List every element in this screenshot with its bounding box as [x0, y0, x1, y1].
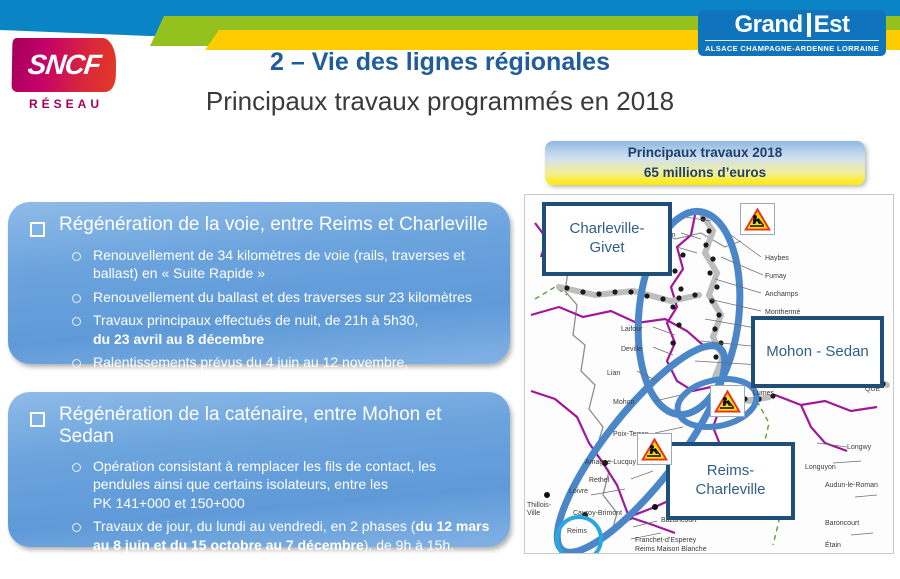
roadworks-glyph [713, 388, 742, 414]
list-item: Renouvellement de 34 kilomètres de voie … [22, 246, 494, 283]
map-callout-line1: Charleville- [569, 220, 644, 237]
roadworks-icon [637, 433, 672, 465]
map-callout-text: Charleville- Givet [569, 220, 644, 258]
svg-text:Reims Maison Blanche: Reims Maison Blanche [635, 546, 707, 553]
svg-text:Loivre: Loivre [569, 488, 588, 495]
svg-text:Rethel: Rethel [589, 477, 610, 484]
map-callout-line1: Mohon - Sedan [766, 343, 869, 360]
list-item: Ralentissements prévus du 4 juin au 12 n… [22, 353, 494, 371]
info-box-catenaire-list: Opération consistant à remplacer les fil… [22, 457, 494, 554]
square-bullet-icon [30, 222, 45, 237]
info-box-catenaire-title: Régénération de la caténaire, entre Moho… [59, 404, 494, 448]
map-banner: Principaux travaux 2018 65 millions d’eu… [545, 141, 865, 185]
list-item-text: Renouvellement de 34 kilomètres de voie … [93, 246, 494, 283]
map-callout-mohon-sedan[interactable]: Mohon - Sedan [751, 316, 884, 388]
map-callout-charleville-givet[interactable]: Charleville- Givet [542, 202, 672, 276]
grand-est-logo: GrandEst ALSACE CHAMPAGNE-ARDENNE LORRAI… [698, 10, 886, 56]
svg-text:Mohon: Mohon [613, 399, 635, 406]
info-box-catenaire-header: Régénération de la caténaire, entre Moho… [30, 404, 494, 448]
svg-text:Cauroy-Brimont: Cauroy-Brimont [573, 510, 622, 517]
map-callout-text: Reims- Charleville [695, 462, 765, 500]
svg-text:Baroncourt: Baroncourt [825, 520, 859, 527]
svg-text:Étain: Étain [825, 540, 841, 549]
svg-text:Deville: Deville [621, 346, 642, 353]
roadworks-glyph [640, 436, 669, 462]
svg-text:Thillois-: Thillois- [527, 502, 552, 509]
grand-est-logo-name: GrandEst [734, 13, 849, 37]
map-banner-line2: 65 millions d’euros [644, 163, 766, 183]
list-item-text: Ralentissements prévus du 4 juin au 12 n… [93, 353, 408, 371]
svg-text:Haybes: Haybes [765, 255, 789, 262]
svg-text:Ville: Ville [527, 510, 540, 517]
svg-text:Franchet-d’Esperey: Franchet-d’Esperey [635, 537, 697, 544]
page-title: 2 – Vie des lignes régionales [160, 48, 720, 77]
map-banner-line1: Principaux travaux 2018 [628, 143, 783, 163]
svg-text:Longuyon: Longuyon [805, 464, 836, 471]
svg-text:Longwy: Longwy [847, 444, 872, 451]
map-callout-line1: Reims- [707, 462, 755, 479]
list-item-text: Opération consistant à remplacer les fil… [93, 457, 494, 512]
grand-est-logo-subtitle: ALSACE CHAMPAGNE-ARDENNE LORRAINE [705, 40, 879, 53]
circle-bullet-icon [72, 294, 81, 303]
list-item: Travaux de jour, du lundi au vendredi, e… [22, 517, 494, 554]
list-item-text: Travaux principaux effectués de nuit, de… [93, 311, 418, 348]
map-callout-reims-charleville[interactable]: Reims- Charleville [666, 442, 795, 520]
circle-bullet-icon [72, 523, 81, 532]
circle-bullet-icon [72, 359, 81, 368]
svg-text:Fumay: Fumay [765, 273, 787, 280]
sncf-logo-shape: SNCF [12, 38, 117, 92]
info-box-voie-list: Renouvellement de 34 kilomètres de voie … [22, 246, 494, 372]
list-item-text: Renouvellement du ballast et des travers… [93, 288, 472, 306]
svg-text:Anchamps: Anchamps [765, 291, 799, 298]
svg-text:Audun-le-Roman: Audun-le-Roman [825, 482, 878, 489]
svg-text:Amagne-Lucquy: Amagne-Lucquy [585, 459, 636, 466]
roadworks-icon [710, 385, 745, 417]
svg-text:Laifour: Laifour [621, 326, 643, 333]
list-item: Travaux principaux effectués de nuit, de… [22, 311, 494, 348]
roadworks-icon [740, 203, 775, 235]
svg-text:Reims: Reims [567, 528, 587, 535]
info-box-voie: Régénération de la voie, entre Reims et … [8, 202, 510, 364]
map-callout-line2: Charleville [695, 481, 765, 498]
sncf-logo-text: SNCF [26, 49, 102, 81]
svg-text:Lian: Lian [607, 370, 620, 377]
svg-text:Lumes: Lumes [753, 390, 775, 397]
grand-est-word-grand: Grand [734, 11, 802, 38]
list-item: Renouvellement du ballast et des travers… [22, 288, 494, 306]
list-item-text: Travaux de jour, du lundi au vendredi, e… [93, 517, 494, 554]
list-item: Opération consistant à remplacer les fil… [22, 457, 494, 512]
sncf-logo-subtitle: RÉSEAU [12, 97, 120, 111]
circle-bullet-icon [72, 252, 81, 261]
page-subtitle: Principaux travaux programmés en 2018 [150, 86, 730, 117]
svg-text:Monthermé: Monthermé [765, 309, 801, 316]
map-callout-text: Mohon - Sedan [766, 343, 869, 362]
circle-bullet-icon [72, 317, 81, 326]
info-box-voie-header: Régénération de la voie, entre Reims et … [30, 214, 494, 237]
info-box-voie-title: Régénération de la voie, entre Reims et … [59, 214, 488, 236]
roadworks-glyph [743, 206, 772, 232]
grand-est-word-est: Est [807, 13, 850, 37]
sncf-reseau-logo: SNCF RÉSEAU [12, 38, 120, 111]
circle-bullet-icon [72, 463, 81, 472]
map-callout-line2: Givet [589, 239, 624, 256]
info-box-catenaire: Régénération de la caténaire, entre Moho… [8, 392, 510, 547]
square-bullet-icon [30, 412, 45, 427]
